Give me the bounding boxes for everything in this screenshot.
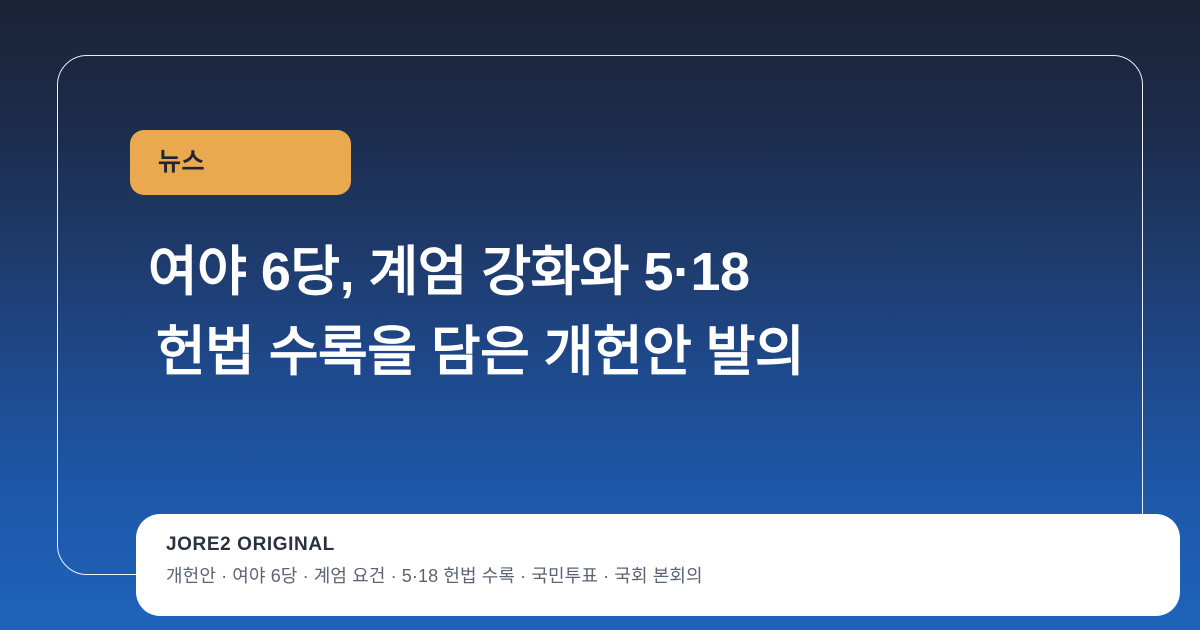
headline-line-1: 여야 6당, 계엄 강화와 5·18 <box>148 232 1108 312</box>
category-badge: 뉴스 <box>130 130 351 195</box>
og-frame-card: 뉴스 여야 6당, 계엄 강화와 5·18 헌법 수록을 담은 개헌안 발의 J… <box>57 55 1143 575</box>
footer-card: JORE2 ORIGINAL 개헌안 · 여야 6당 · 계엄 요건 · 5·1… <box>136 514 1180 616</box>
brand-label: JORE2 ORIGINAL <box>166 533 1150 557</box>
category-badge-label: 뉴스 <box>130 150 205 175</box>
headline-line-2: 헌법 수록을 담은 개헌안 발의 <box>148 312 1108 392</box>
tag-list: 개헌안 · 여야 6당 · 계엄 요건 · 5·18 헌법 수록 · 국민투표 … <box>166 565 1150 588</box>
headline: 여야 6당, 계엄 강화와 5·18 헌법 수록을 담은 개헌안 발의 <box>148 232 1108 392</box>
